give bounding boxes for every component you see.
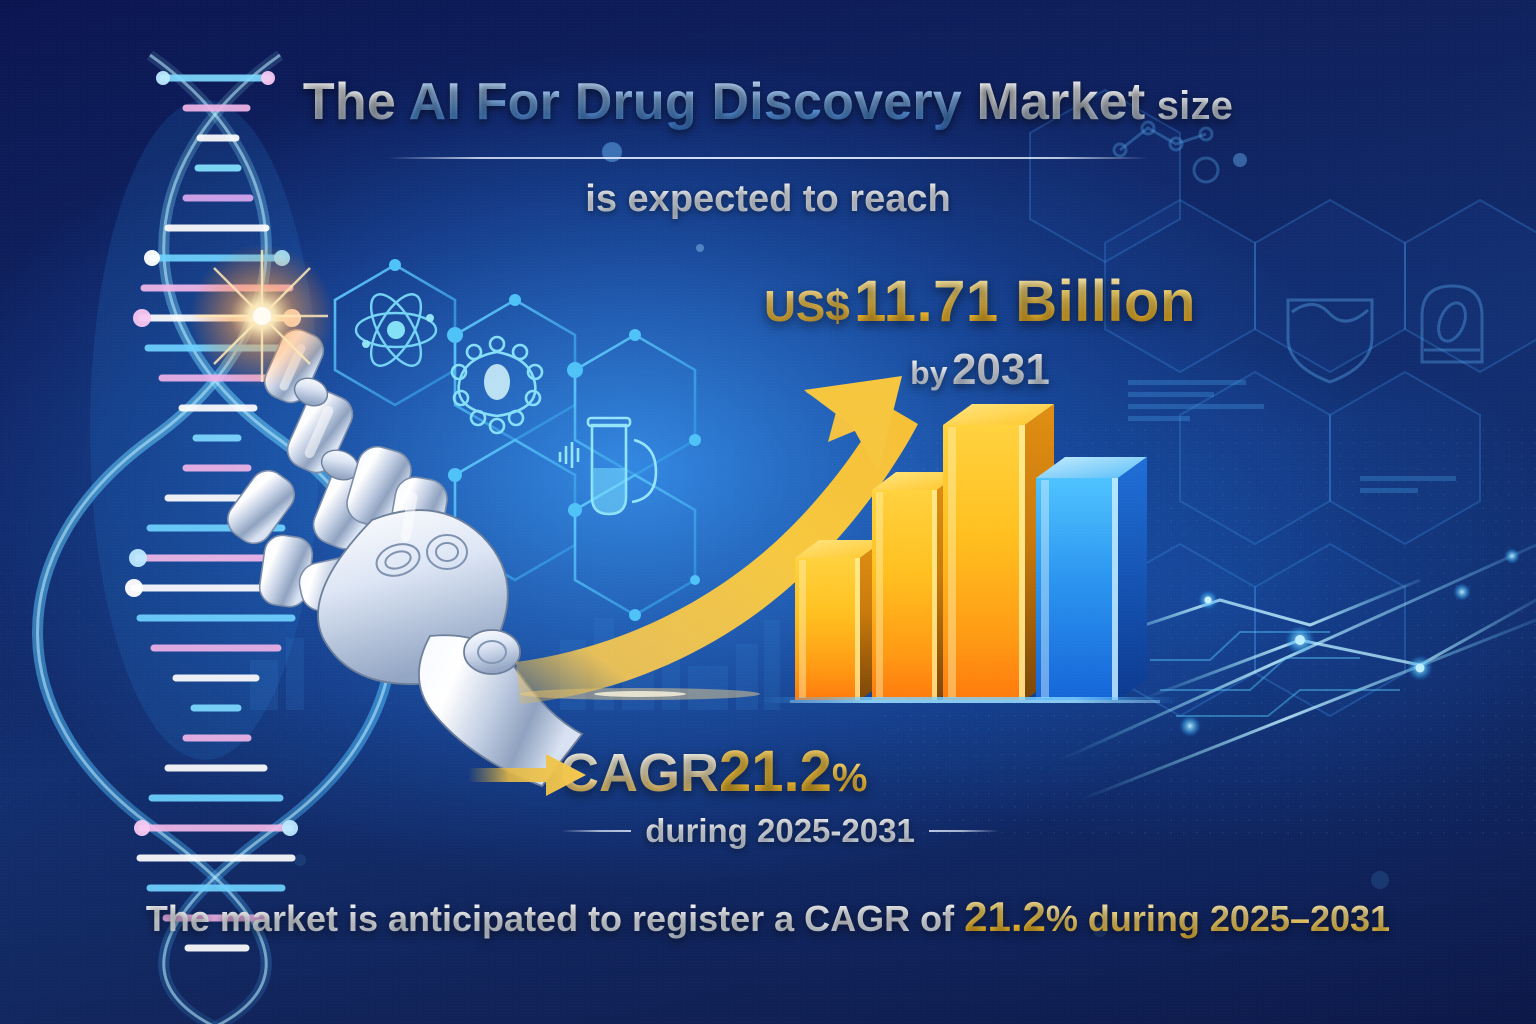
bar-chart-graphics <box>0 0 1536 1024</box>
bar-4 <box>1036 457 1147 700</box>
infographic-canvas: The AI For Drug Discovery Market size is… <box>0 0 1536 1024</box>
bar-1 <box>795 540 884 700</box>
bar-chart <box>0 0 1536 1024</box>
